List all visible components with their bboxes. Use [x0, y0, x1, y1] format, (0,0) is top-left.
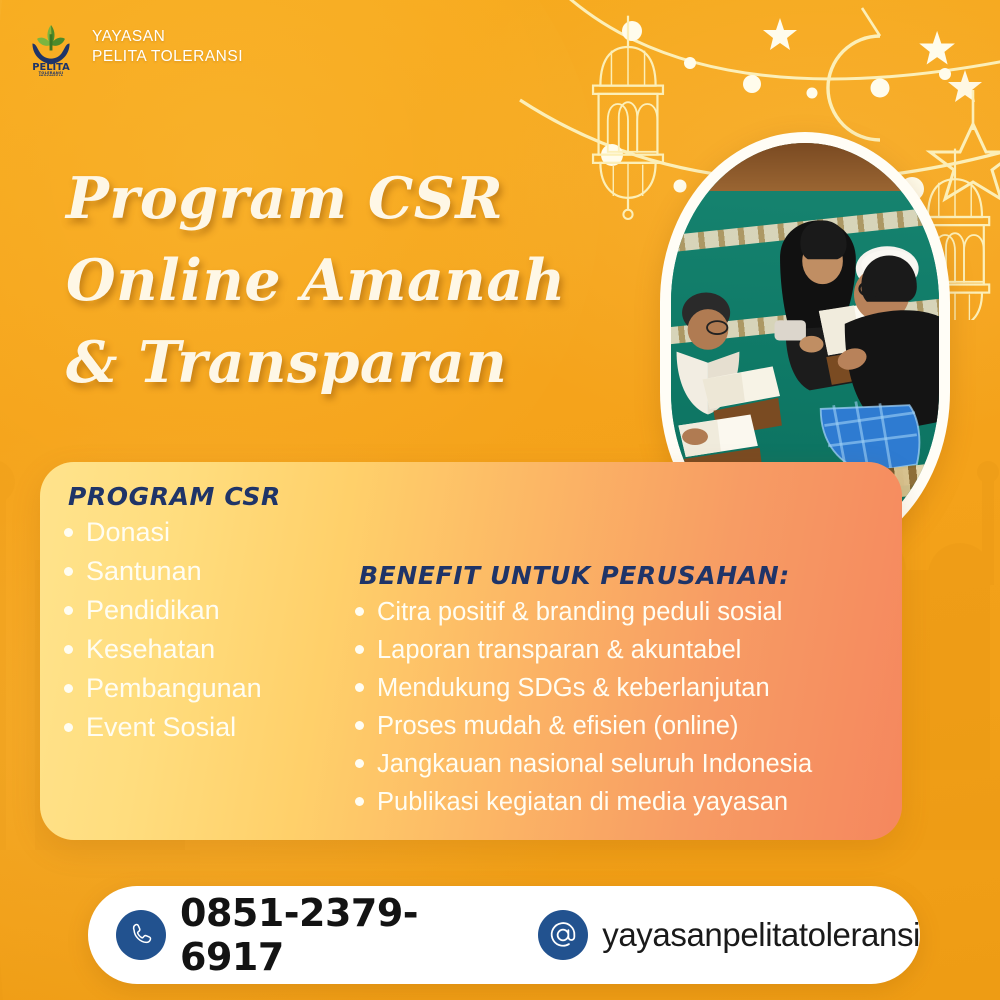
bullet-icon — [355, 683, 364, 692]
star-icon — [763, 18, 797, 50]
star-icon — [919, 31, 955, 65]
list-item: Laporan transparan & akuntabel — [355, 631, 900, 669]
bullet-icon — [64, 684, 73, 693]
handle-name: yayasanpelitatoleransi — [602, 916, 920, 954]
list-item-label: Pendidikan — [86, 591, 220, 630]
list-item: Proses mudah & efisien (online) — [355, 707, 900, 745]
brand-name: YAYASAN PELITA TOLERANSI — [92, 27, 243, 67]
list-item: Jangkauan nasional seluruh Indonesia — [355, 745, 900, 783]
bullet-icon — [64, 723, 73, 732]
list-item: Publikasi kegiatan di media yayasan — [355, 783, 900, 821]
sprout-in-hands-logo-icon: PELITA TOLERANSI INDONESIA — [22, 18, 80, 76]
list-item: Donasi — [64, 513, 364, 552]
list-item: Mendukung SDGs & keberlanjutan — [355, 669, 900, 707]
crescent-moon-icon — [828, 8, 880, 140]
logo-subtext-2: INDONESIA — [39, 74, 64, 76]
list-item-label: Pembangunan — [86, 669, 262, 708]
program-heading: PROGRAM CSR — [68, 482, 364, 511]
list-item-label: Proses mudah & efisien (online) — [377, 707, 738, 745]
benefit-heading: BENEFIT UNTUK PERUSAHAN: — [359, 561, 900, 590]
program-section: PROGRAM CSR Donasi Santunan Pendidikan K… — [64, 482, 364, 747]
contact-handle[interactable]: yayasanpelitatoleransi — [538, 910, 920, 960]
list-item: Pendidikan — [64, 591, 364, 630]
brand-header: PELITA TOLERANSI INDONESIA YAYASAN PELIT… — [22, 18, 243, 76]
bullet-icon — [64, 528, 73, 537]
list-item-label: Event Sosial — [86, 708, 236, 747]
phone-icon — [116, 910, 166, 960]
bullet-icon — [355, 721, 364, 730]
bullet-icon — [64, 645, 73, 654]
list-item: Event Sosial — [64, 708, 364, 747]
bullet-icon — [64, 606, 73, 615]
headline-line-3: & Transparan — [66, 322, 706, 404]
benefit-list: Citra positif & branding peduli sosial L… — [355, 593, 900, 821]
program-list: Donasi Santunan Pendidikan Kesehatan Pem… — [64, 513, 364, 747]
bullet-icon — [355, 607, 364, 616]
headline-line-1: Program CSR — [66, 158, 706, 240]
phone-number: 0851-2379-6917 — [180, 891, 476, 979]
list-item: Kesehatan — [64, 630, 364, 669]
list-item: Santunan — [64, 552, 364, 591]
list-item-label: Citra positif & branding peduli sosial — [377, 593, 782, 631]
benefit-section: BENEFIT UNTUK PERUSAHAN: Citra positif &… — [355, 561, 900, 821]
info-card: PROGRAM CSR Donasi Santunan Pendidikan K… — [40, 462, 902, 840]
list-item-label: Mendukung SDGs & keberlanjutan — [377, 669, 770, 707]
list-item: Citra positif & branding peduli sosial — [355, 593, 900, 631]
star-icon — [948, 70, 982, 102]
list-item-label: Jangkauan nasional seluruh Indonesia — [377, 745, 812, 783]
list-item-label: Laporan transparan & akuntabel — [377, 631, 741, 669]
bullet-icon — [64, 567, 73, 576]
list-item-label: Kesehatan — [86, 630, 215, 669]
at-sign-icon — [538, 910, 588, 960]
page-title: Program CSR Online Amanah & Transparan — [66, 158, 706, 404]
list-item-label: Publikasi kegiatan di media yayasan — [377, 783, 788, 821]
headline-line-2: Online Amanah — [66, 240, 706, 322]
poster-canvas: PELITA TOLERANSI INDONESIA YAYASAN PELIT… — [0, 0, 1000, 1000]
bullet-icon — [355, 759, 364, 768]
bullet-icon — [355, 645, 364, 654]
brand-line-1: YAYASAN — [92, 27, 243, 47]
contact-phone[interactable]: 0851-2379-6917 — [116, 891, 476, 979]
contact-bar: 0851-2379-6917 yayasanpelitatoleransi — [88, 886, 920, 984]
bullet-icon — [355, 797, 364, 806]
list-item-label: Santunan — [86, 552, 202, 591]
list-item: Pembangunan — [64, 669, 364, 708]
brand-line-2: PELITA TOLERANSI — [92, 47, 243, 67]
list-item-label: Donasi — [86, 513, 170, 552]
